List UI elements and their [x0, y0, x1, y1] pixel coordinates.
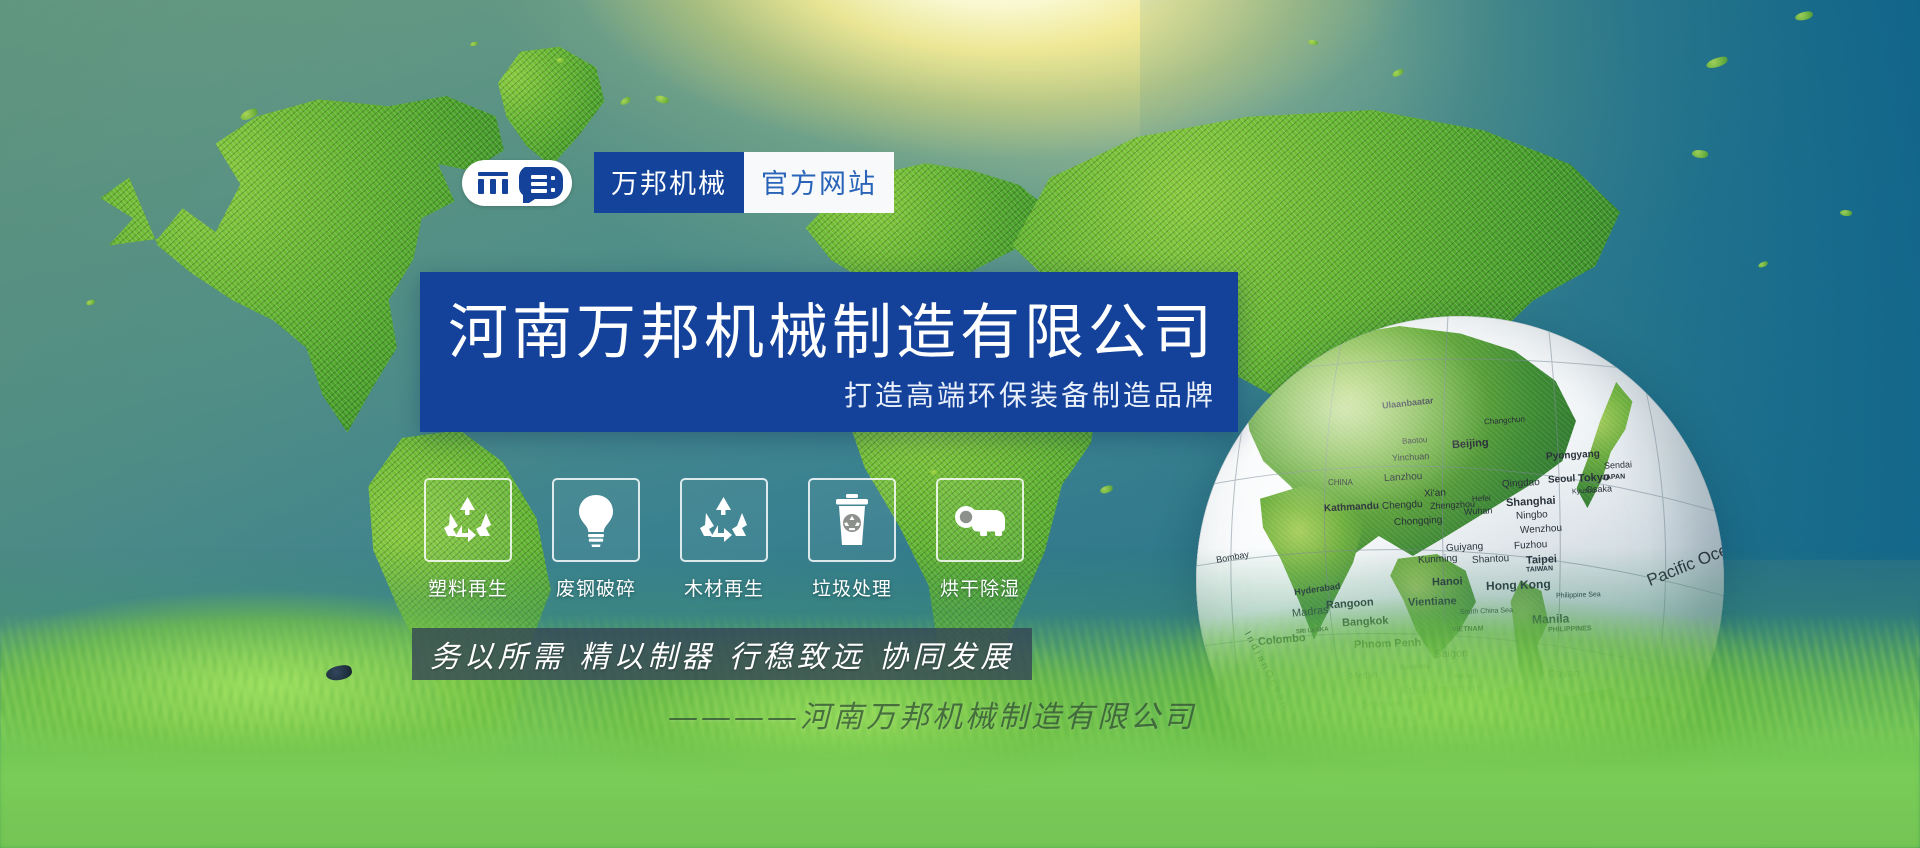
slogan-bar: 务以所需 精以制器 行稳致远 协同发展 [412, 628, 1032, 680]
brand-tabs[interactable]: 万邦机械 官方网站 [594, 152, 894, 213]
wb-monogram-icon [469, 163, 565, 203]
wanbang-logo-icon[interactable] [462, 160, 572, 206]
brand-tab-company[interactable]: 万邦机械 [594, 152, 744, 213]
feature-icon-row[interactable]: 塑料再生 废钢破碎 木材再生 垃圾处理 [418, 478, 1030, 601]
leaf-speck [654, 94, 670, 106]
feature-label: 废钢破碎 [546, 574, 646, 601]
leaf-speck [1391, 68, 1404, 78]
grass-bottom-blur [0, 728, 1920, 848]
leaf-speck [1758, 261, 1769, 269]
trash-bin-icon [808, 478, 896, 562]
leaf-speck [1691, 148, 1708, 159]
brand-tab-official-site[interactable]: 官方网站 [744, 152, 894, 213]
recycle-icon [680, 478, 768, 562]
feature-item-3[interactable]: 木材再生 [674, 478, 774, 601]
slogan-text: 务以所需 精以制器 行稳致远 协同发展 [430, 632, 1015, 676]
feature-item-4[interactable]: 垃圾处理 [802, 478, 902, 601]
leaf-speck [1840, 209, 1853, 217]
leaf-speck [619, 96, 632, 106]
feature-label: 塑料再生 [418, 574, 518, 601]
leaf-speck [1099, 485, 1113, 495]
page-title: 河南万邦机械制造有限公司 [448, 284, 1216, 371]
page-subtitle: 打造高端环保装备制造品牌 [844, 374, 1216, 414]
feature-label: 垃圾处理 [802, 574, 902, 601]
feature-item-5[interactable]: 烘干除湿 [930, 478, 1030, 601]
recycle-icon [424, 478, 512, 562]
feature-label: 烘干除湿 [930, 574, 1030, 601]
leaf-speck [470, 41, 478, 46]
lightbulb-icon [552, 478, 640, 562]
dryer-icon [936, 478, 1024, 562]
feature-item-1[interactable]: 塑料再生 [418, 478, 518, 601]
leaf-speck [1795, 11, 1814, 21]
hero-title-banner: 河南万邦机械制造有限公司 打造高端环保装备制造品牌 [420, 272, 1238, 432]
feature-label: 木材再生 [674, 574, 774, 601]
leaf-speck [86, 299, 96, 305]
brand-header[interactable]: 万邦机械 官方网站 [462, 152, 894, 213]
hero-banner: UlaanbaatarBeijingBaotouChangchunYinchua… [0, 0, 1920, 848]
feature-item-2[interactable]: 废钢破碎 [546, 478, 646, 601]
leaf-speck [1308, 39, 1319, 47]
leaf-speck [1705, 55, 1729, 69]
slogan-signature: ————河南万邦机械制造有限公司 [668, 692, 1196, 736]
